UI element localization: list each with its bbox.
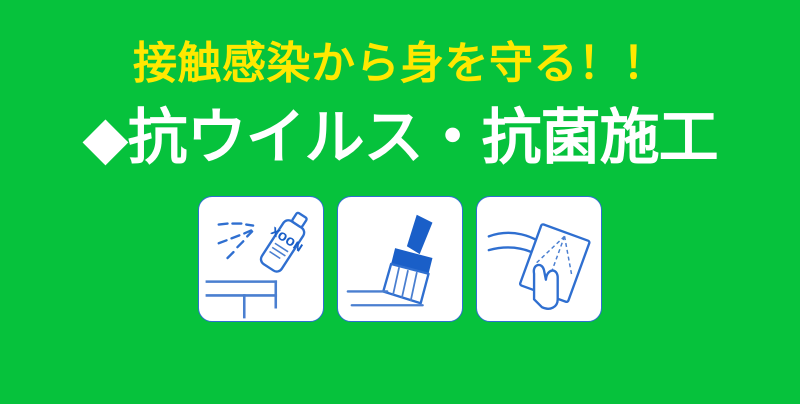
headline-text: 接触感染から身を守る！！ [0,38,800,90]
spray-bottle-icon: NOOX [199,197,323,321]
panel-spray-application: NOOX [198,196,324,322]
wiping-cloth-icon [477,197,601,321]
panel-brush-application [337,196,463,322]
paint-brush-icon [338,197,462,321]
icon-panel-row: NOOX [0,196,800,322]
subtitle-text: ◆抗ウイルス・抗菌施工 [0,102,800,174]
panel-wipe-application [476,196,602,322]
promo-banner: 接触感染から身を守る！！ ◆抗ウイルス・抗菌施工 [0,0,800,404]
